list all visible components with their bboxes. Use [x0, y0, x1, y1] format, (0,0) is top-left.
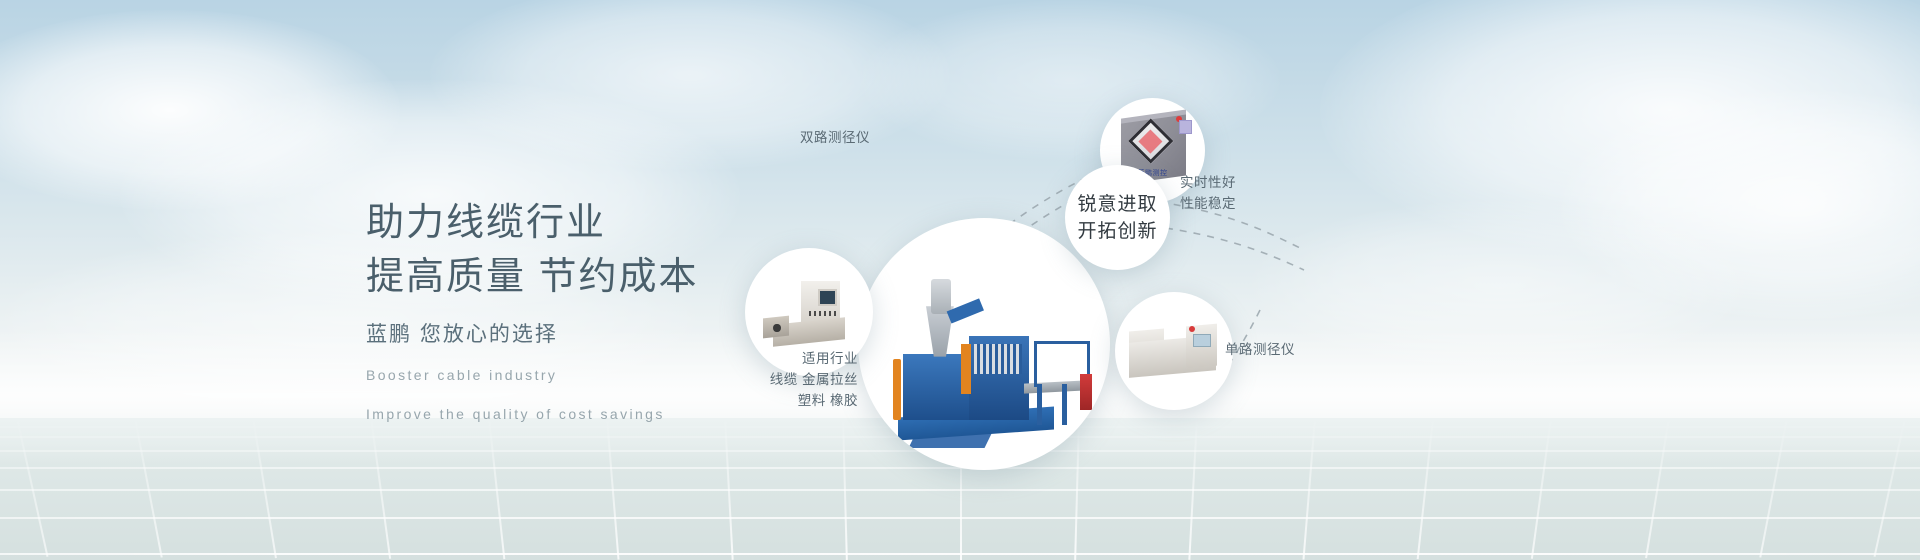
english-tagline-1: Booster cable industry [366, 362, 699, 389]
label-dual-gauge: 双路测径仪 [800, 128, 870, 147]
industry-line-1: 线缆 金属拉丝 [728, 369, 858, 390]
hero-copy: 助力线缆行业 提高质量 节约成本 蓝鹏 您放心的选择 Booster cable… [366, 196, 699, 428]
headline-line-2: 提高质量 节约成本 [366, 250, 699, 304]
bubble-extrusion-line [858, 218, 1110, 470]
hero-banner: 助力线缆行业 提高质量 节约成本 蓝鹏 您放心的选择 Booster cable… [0, 0, 1920, 560]
extrusion-line-illustration [858, 218, 1110, 470]
feature-line-2: 性能稳定 [1180, 193, 1236, 214]
industry-line-2: 塑料 橡胶 [728, 390, 858, 411]
bubble-slogan: 锐意进取 开拓创新 [1065, 165, 1170, 270]
feature-line-1: 实时性好 [1180, 172, 1236, 193]
bubble-single-gauge [1115, 292, 1233, 410]
label-features: 实时性好 性能稳定 [1180, 172, 1236, 214]
label-industries: 适用行业 线缆 金属拉丝 塑料 橡胶 [728, 348, 858, 411]
product-composition: 蓝鹏测控 [700, 60, 1920, 530]
industry-title: 适用行业 [728, 348, 858, 369]
subheadline: 蓝鹏 您放心的选择 [366, 320, 699, 350]
english-tagline-2: Improve the quality of cost savings [366, 401, 699, 428]
headline-line-1: 助力线缆行业 [366, 196, 699, 250]
slogan-line-2: 开拓创新 [1077, 218, 1157, 245]
single-gauge-illustration [1115, 292, 1233, 410]
slogan-text: 锐意进取 开拓创新 [1077, 191, 1157, 245]
cloud-decoration [0, 10, 400, 210]
label-single-gauge: 单路测径仪 [1225, 340, 1295, 359]
slogan-line-1: 锐意进取 [1077, 191, 1157, 218]
